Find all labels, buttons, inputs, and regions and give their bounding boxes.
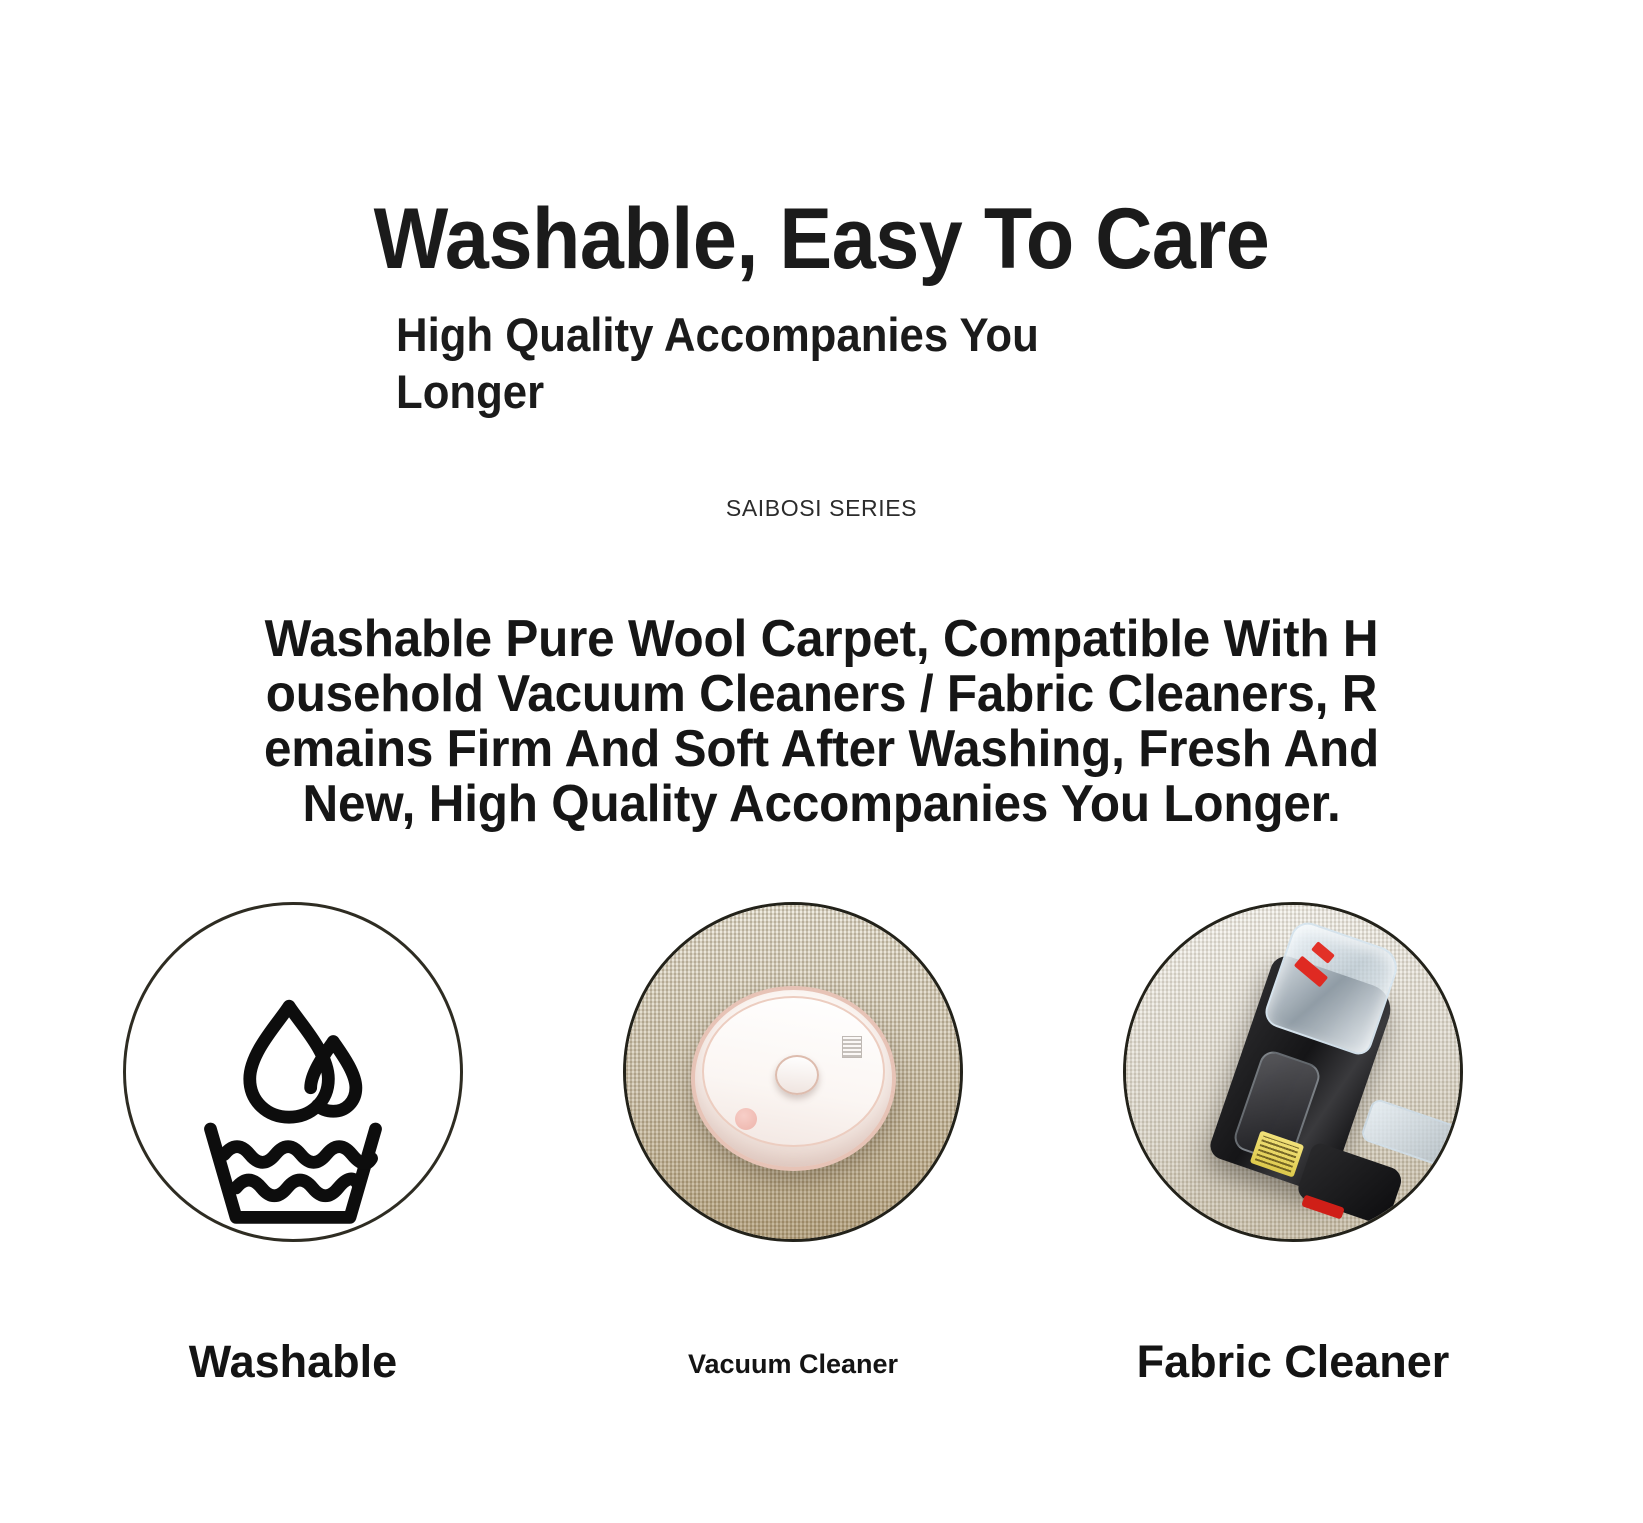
vacuum-cleaner-photo-circle [623, 902, 963, 1242]
product-infographic-page: Washable, Easy To Care High Quality Acco… [0, 0, 1643, 1523]
robot-vacuum-sensor-knob [775, 1055, 819, 1095]
feature-caption-fabric-cleaner: Fabric Cleaner [1048, 1336, 1538, 1388]
series-label: SAIBOSI SERIES [0, 495, 1643, 522]
page-subtitle-line-1: High Quality Accompanies You [396, 306, 1159, 363]
fabric-cleaner-photo-circle [1123, 902, 1463, 1242]
description-paragraph: Washable Pure Wool Carpet, Compatible Wi… [41, 612, 1602, 832]
washable-tub-icon [126, 905, 460, 1239]
page-subtitle-line-2: Longer [396, 363, 1159, 420]
robot-vacuum-indicator-dot [735, 1108, 757, 1130]
description-line-4: New, High Quality Accompanies You Longer… [41, 777, 1602, 832]
robot-vacuum-device [691, 986, 896, 1171]
washable-icon-circle [123, 902, 463, 1242]
feature-row: Washable Vacuum Cleaner [0, 890, 1643, 1450]
feature-item-vacuum-cleaner: Vacuum Cleaner [548, 890, 1038, 1450]
description-line-2: ousehold Vacuum Cleaners / Fabric Cleane… [41, 667, 1602, 722]
page-subtitle: High Quality Accompanies You Longer [396, 306, 1159, 421]
feature-caption-washable: Washable [48, 1336, 538, 1388]
description-line-1: Washable Pure Wool Carpet, Compatible Wi… [41, 612, 1602, 667]
page-title: Washable, Easy To Care [66, 196, 1578, 284]
robot-vacuum-badge [842, 1036, 862, 1058]
feature-caption-vacuum-cleaner: Vacuum Cleaner [548, 1349, 1038, 1380]
feature-item-washable: Washable [48, 890, 538, 1450]
description-line-3: emains Firm And Soft After Washing, Fres… [41, 722, 1602, 777]
feature-item-fabric-cleaner: Fabric Cleaner [1048, 890, 1538, 1450]
